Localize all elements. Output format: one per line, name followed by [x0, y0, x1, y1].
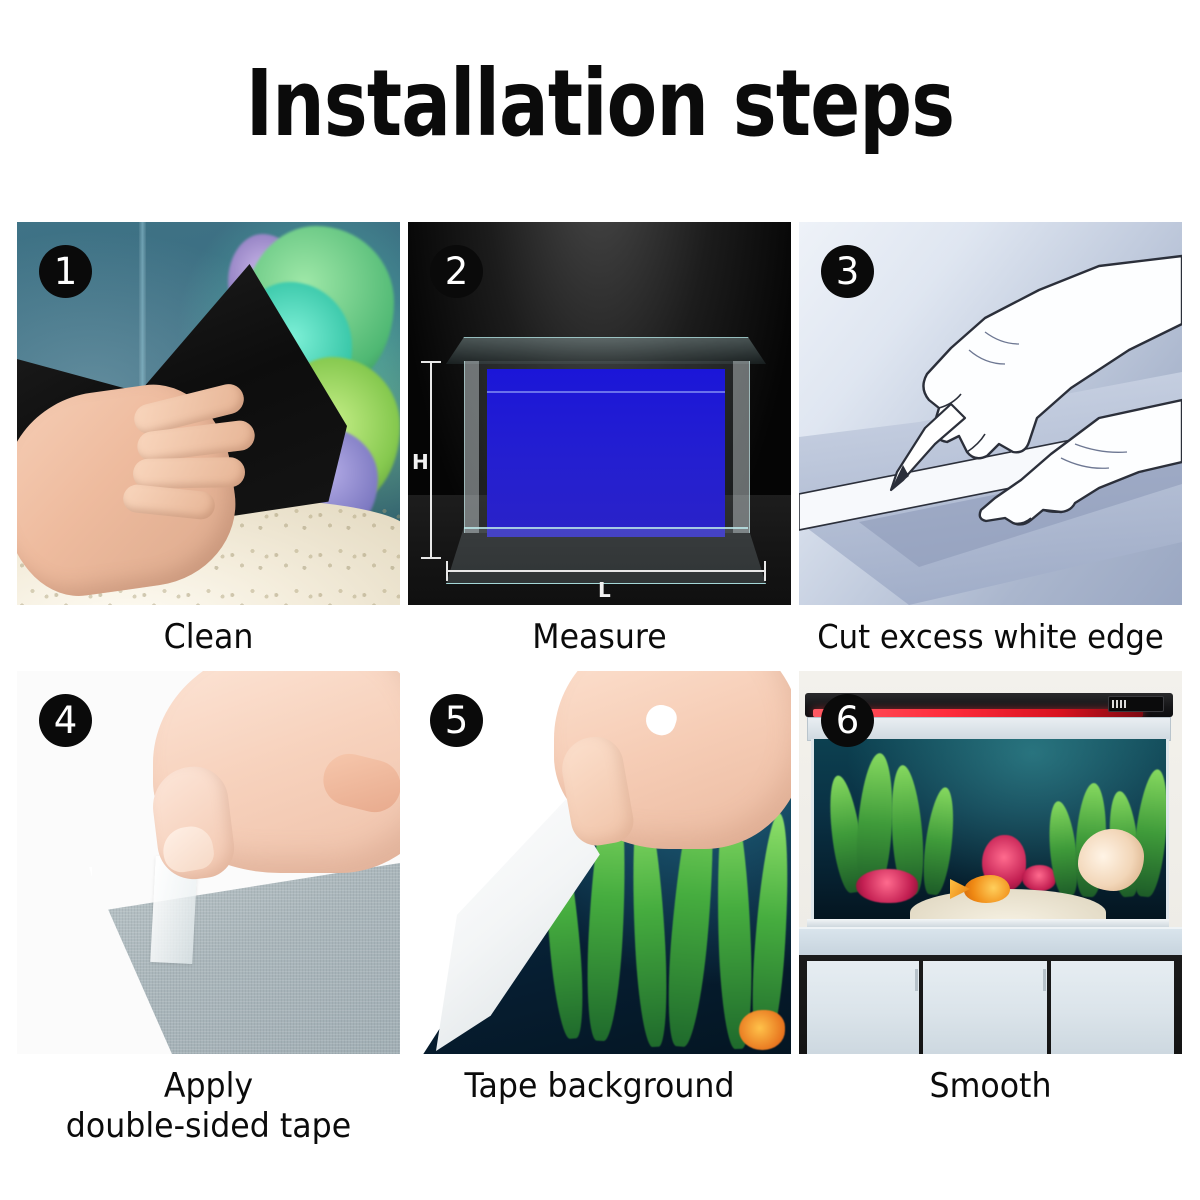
installation-steps-grid: 1 Clean H L 2 [17, 222, 1183, 1146]
cabinet-door [807, 961, 919, 1054]
step-cell-5: 5 Tape background [408, 671, 791, 1146]
aquarium-plant [920, 786, 959, 896]
step-3-image-cut: 3 [799, 222, 1182, 605]
aquarium-red-plant [1022, 865, 1056, 891]
glass-tank [446, 337, 766, 559]
length-dimension-line [446, 570, 766, 572]
cabinet-door [923, 961, 1047, 1054]
tank-bottom-rim [807, 919, 1169, 927]
step-cell-6: 6 Smooth [799, 671, 1182, 1146]
tank-glass-body [464, 361, 750, 533]
step-2-image-measure: H L 2 [408, 222, 791, 605]
tank-top-opening [446, 337, 766, 364]
steps-row-1: 1 Clean H L 2 [17, 222, 1183, 657]
blue-background-panel [487, 369, 725, 537]
step-caption-3: Cut excess white edge [812, 605, 1168, 657]
step-badge-4: 4 [39, 694, 92, 747]
step-badge-5: 5 [430, 694, 483, 747]
hand-finger [133, 457, 246, 489]
step-5-image-tape-background: 5 [408, 671, 791, 1054]
step-caption-5: Tape background [421, 1054, 777, 1106]
cabinet-top [799, 927, 1182, 957]
step-4-image-apply-tape: 4 [17, 671, 400, 1054]
cabinet-door [1051, 961, 1174, 1054]
step-1-image-clean: 1 [17, 222, 400, 605]
height-dimension-line [430, 361, 432, 559]
step-caption-4: Apply double-sided tape [30, 1054, 386, 1146]
step-badge-2: 2 [430, 245, 483, 298]
step-caption-6: Smooth [812, 1054, 1168, 1106]
cabinet-door-handle [915, 969, 918, 991]
steps-row-2: 4 Apply double-sided tape [17, 657, 1183, 1146]
goldfish [964, 875, 1010, 903]
tank-base [446, 527, 766, 584]
step-cell-2: H L 2 Measure [408, 222, 791, 657]
aquarium-viewing-panel [811, 739, 1169, 919]
step-badge-3: 3 [821, 245, 874, 298]
step-caption-2: Measure [421, 605, 777, 657]
aquarium-red-plant [856, 869, 918, 903]
step-cell-4: 4 Apply double-sided tape [17, 671, 400, 1146]
betta-fish [1078, 829, 1144, 891]
page-title: Installation steps [120, 58, 1080, 150]
step-6-image-smooth: 6 [799, 671, 1182, 1054]
cabinet-door-handle [1043, 969, 1046, 991]
dimension-label-height: H [412, 450, 429, 474]
cabinet-body [799, 955, 1182, 1054]
step-cell-1: 1 Clean [17, 222, 400, 657]
step-badge-6: 6 [821, 694, 874, 747]
step-caption-1: Clean [30, 605, 386, 657]
water-line [487, 391, 725, 393]
step-cell-3: 3 Cut excess white edge [799, 222, 1182, 657]
step-badge-1: 1 [39, 245, 92, 298]
led-controller-display [1108, 696, 1164, 712]
poster-orange-coral [739, 1010, 785, 1050]
dimension-label-length: L [598, 578, 611, 602]
